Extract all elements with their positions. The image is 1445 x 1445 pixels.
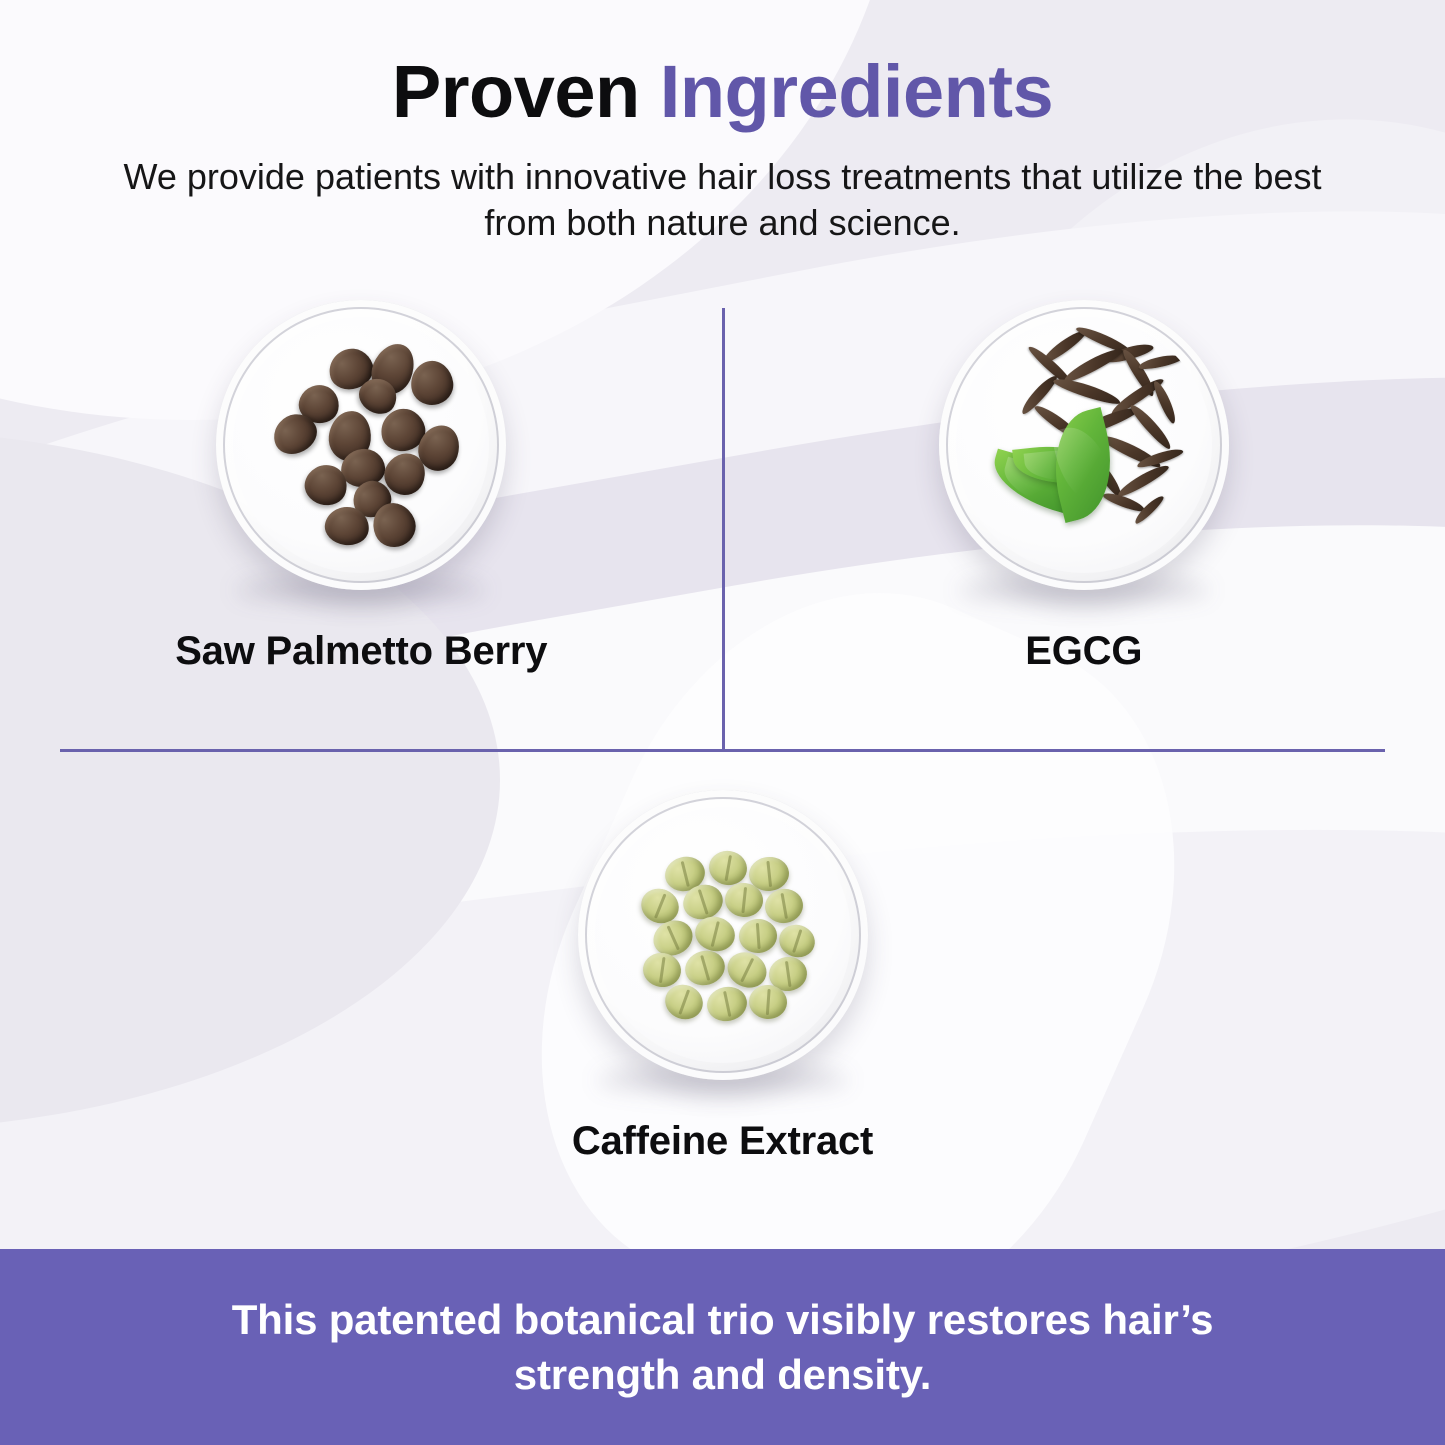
divider-horizontal [60,749,1385,752]
caffeine-green-coffee-beans [595,807,851,1063]
ingredient-label: Caffeine Extract [0,1119,1445,1164]
page-subtitle: We provide patients with innovative hair… [93,154,1353,246]
egcg-tea-leaves [956,317,1212,573]
petri-dish-caffeine-icon [578,790,868,1080]
ingredient-label: Saw Palmetto Berry [0,629,723,674]
dish-glass [216,300,506,590]
dish-interior [595,807,851,1063]
footer-banner-text: This patented botanical trio visibly res… [163,1292,1283,1403]
ingredient-card-caffeine: Caffeine Extract [0,790,1445,1164]
header: Proven Ingredients We provide patients w… [0,52,1445,246]
ingredient-card-egcg: EGCG [723,300,1445,674]
petri-dish-saw-palmetto-icon [216,300,506,590]
dish-interior [956,317,1212,573]
saw-palmetto-berries [233,317,489,573]
page-title-word-proven: Proven [392,50,640,133]
ingredient-card-saw-palmetto: Saw Palmetto Berry [0,300,723,674]
dish-glass [939,300,1229,590]
petri-dish-egcg-icon [939,300,1229,590]
page-title-word-ingredients: Ingredients [660,50,1053,133]
dish-glass [578,790,868,1080]
page-title: Proven Ingredients [0,52,1445,132]
divider-vertical [722,308,725,752]
dish-interior [233,317,489,573]
ingredients-infographic: Proven Ingredients We provide patients w… [0,0,1445,1445]
ingredient-label: EGCG [723,629,1445,674]
footer-banner: This patented botanical trio visibly res… [0,1249,1445,1445]
